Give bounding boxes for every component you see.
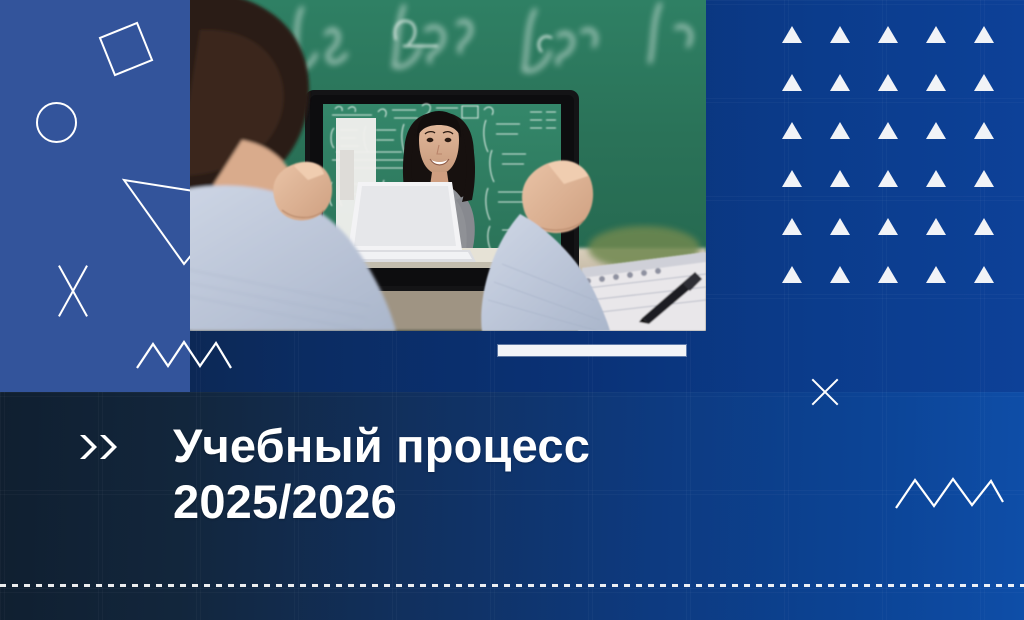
hero-photo: [190, 0, 706, 331]
double-chevron-right-icon: [78, 432, 122, 462]
dotted-divider-icon: [0, 584, 1024, 587]
poster-canvas: Учебный процесс 2025/2026: [0, 0, 1024, 620]
underline-bar-icon: [498, 345, 686, 356]
page-title: Учебный процесс 2025/2026: [173, 418, 590, 530]
left-accent-panel: [0, 0, 190, 392]
